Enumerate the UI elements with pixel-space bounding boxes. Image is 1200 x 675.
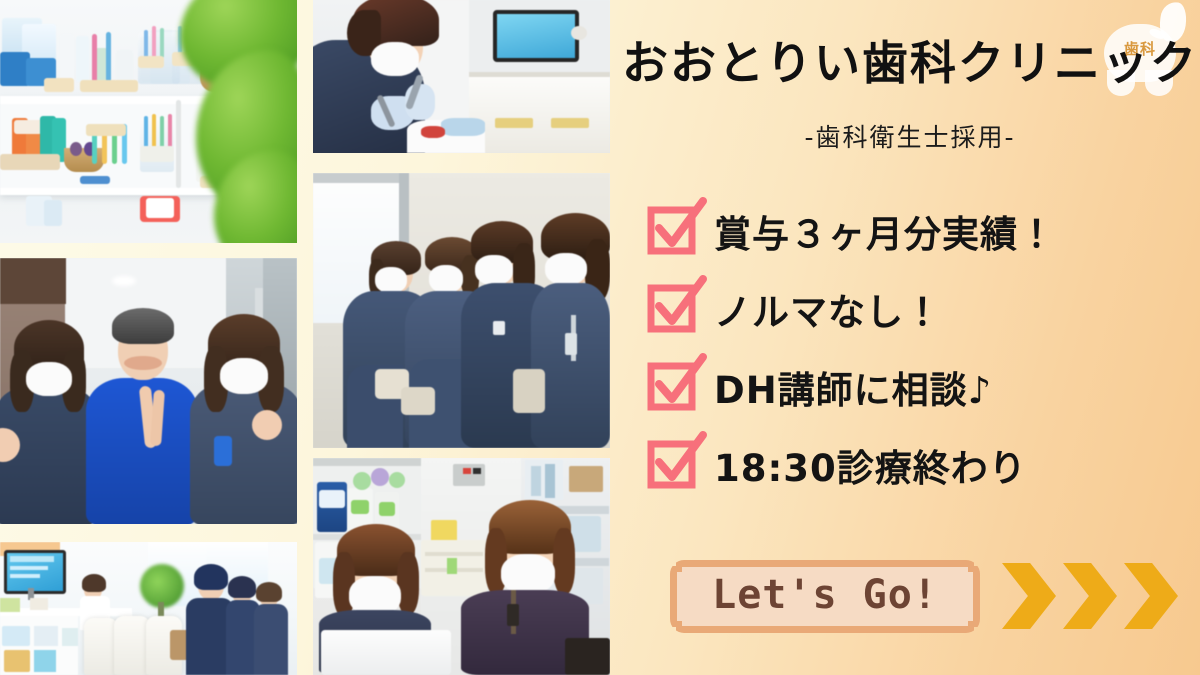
- checklist-item: 18:30診療終わり: [648, 426, 1200, 504]
- clinic-name-title: おおとりい歯科クリニック: [620, 38, 1200, 89]
- cta-area: Let's Go!: [650, 556, 1200, 640]
- photo-dental-supply-shelf: [0, 0, 297, 243]
- recruitment-banner: 歯科 おおとりい歯科クリニック -歯科衛生士採用- 賞与３ヶ月分実績！: [0, 0, 1200, 675]
- photo-waiting-room: [0, 542, 297, 675]
- recruitment-subtitle: -歯科衛生士採用-: [620, 118, 1200, 154]
- photo-staff-seated-row: [313, 173, 610, 448]
- photo-staff-at-reception: [313, 458, 610, 675]
- left-photo-column: [0, 0, 297, 675]
- benefits-checklist: 賞与３ヶ月分実績！ ノルマなし！ DH講師に: [648, 192, 1200, 504]
- checklist-item-label: 18:30診療終わり: [714, 438, 1027, 492]
- photo-three-staff-thumbsup: [0, 258, 297, 524]
- chevron-right-icon: [1124, 563, 1178, 629]
- checklist-item: ノルマなし！: [648, 270, 1200, 348]
- checklist-item-label: ノルマなし！: [714, 282, 942, 336]
- chevron-right-icon: [1063, 563, 1117, 629]
- right-content-panel: 歯科 おおとりい歯科クリニック -歯科衛生士採用- 賞与３ヶ月分実績！: [620, 0, 1200, 675]
- lets-go-button[interactable]: Let's Go!: [670, 560, 980, 633]
- checklist-item: DH講師に相談♪: [648, 348, 1200, 426]
- middle-photo-column: [313, 0, 610, 675]
- photo-hygienist-treatment: [313, 0, 610, 153]
- checkbox-checked-icon: [648, 362, 698, 412]
- checklist-item-label: DH講師に相談♪: [714, 360, 992, 414]
- lets-go-button-label: Let's Go!: [670, 560, 980, 633]
- checkbox-checked-icon: [648, 206, 698, 256]
- checkbox-checked-icon: [648, 440, 698, 490]
- chevron-right-icon: [1002, 563, 1056, 629]
- checkbox-checked-icon: [648, 284, 698, 334]
- chevron-group: [1002, 563, 1178, 629]
- checklist-item: 賞与３ヶ月分実績！: [648, 192, 1200, 270]
- checklist-item-label: 賞与３ヶ月分実績！: [714, 204, 1056, 258]
